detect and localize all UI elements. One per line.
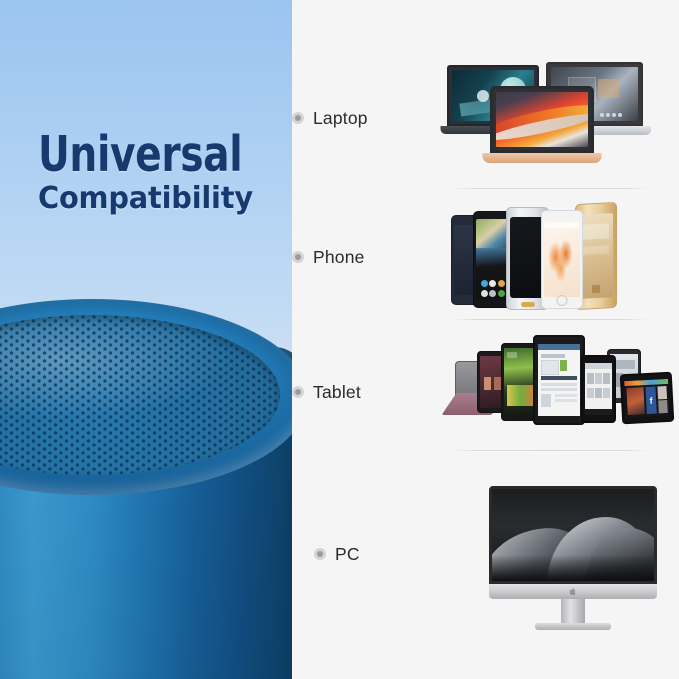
black-ipad-mini <box>581 355 616 423</box>
radio-dot-icon <box>292 386 304 398</box>
label-group-phone: Phone <box>292 247 429 268</box>
hero-title-line1: Universal <box>38 131 242 178</box>
apple-logo-icon <box>569 587 577 596</box>
imac-stand-foot <box>535 623 611 630</box>
divider-3 <box>452 450 648 451</box>
tablet-group-photo: f <box>429 331 679 453</box>
compat-row-phone[interactable]: Phone <box>292 199 679 315</box>
bluetooth-speaker-product-image: ANEMY <box>0 299 292 679</box>
label-group-pc: PC <box>292 544 451 565</box>
hero-title: Universal Compatibility <box>38 131 292 214</box>
imac-screen <box>489 486 657 584</box>
product-infographic: Universal Compatibility ANEMY Laptop <box>0 0 679 679</box>
kindle-fire-tablet: f <box>620 372 675 425</box>
hero-panel: Universal Compatibility ANEMY <box>0 0 292 679</box>
gold-macbook-air <box>490 86 594 164</box>
white-ipad <box>533 335 585 425</box>
speaker-grille <box>0 315 280 475</box>
imac-chin <box>489 584 657 599</box>
label-group-laptop: Laptop <box>292 108 429 129</box>
compat-row-tablet[interactable]: Tablet <box>292 331 679 453</box>
white-iphone <box>541 210 583 309</box>
compat-row-pc[interactable]: PC <box>292 480 679 628</box>
divider-2 <box>452 319 648 320</box>
compatibility-list-panel: Laptop <box>292 0 679 679</box>
speaker-grille-perforations <box>0 315 280 475</box>
radio-dot-icon <box>292 251 304 263</box>
phone-group-photo <box>429 199 679 315</box>
compat-label-phone: Phone <box>313 247 365 268</box>
compat-label-laptop: Laptop <box>313 108 368 129</box>
compat-label-pc: PC <box>335 544 360 565</box>
laptop-group-photo <box>429 48 679 188</box>
imac-photo <box>451 480 679 628</box>
radio-dot-icon <box>292 112 304 124</box>
compat-label-tablet: Tablet <box>313 382 361 403</box>
hero-title-line2: Compatibility <box>38 185 283 214</box>
speaker-top-rim <box>0 299 292 495</box>
imac-stand-neck <box>561 599 585 625</box>
compat-row-laptop[interactable]: Laptop <box>292 48 679 188</box>
divider-1 <box>452 188 648 189</box>
label-group-tablet: Tablet <box>292 382 429 403</box>
silver-imac-desktop <box>489 486 657 631</box>
radio-dot-icon <box>314 548 326 560</box>
